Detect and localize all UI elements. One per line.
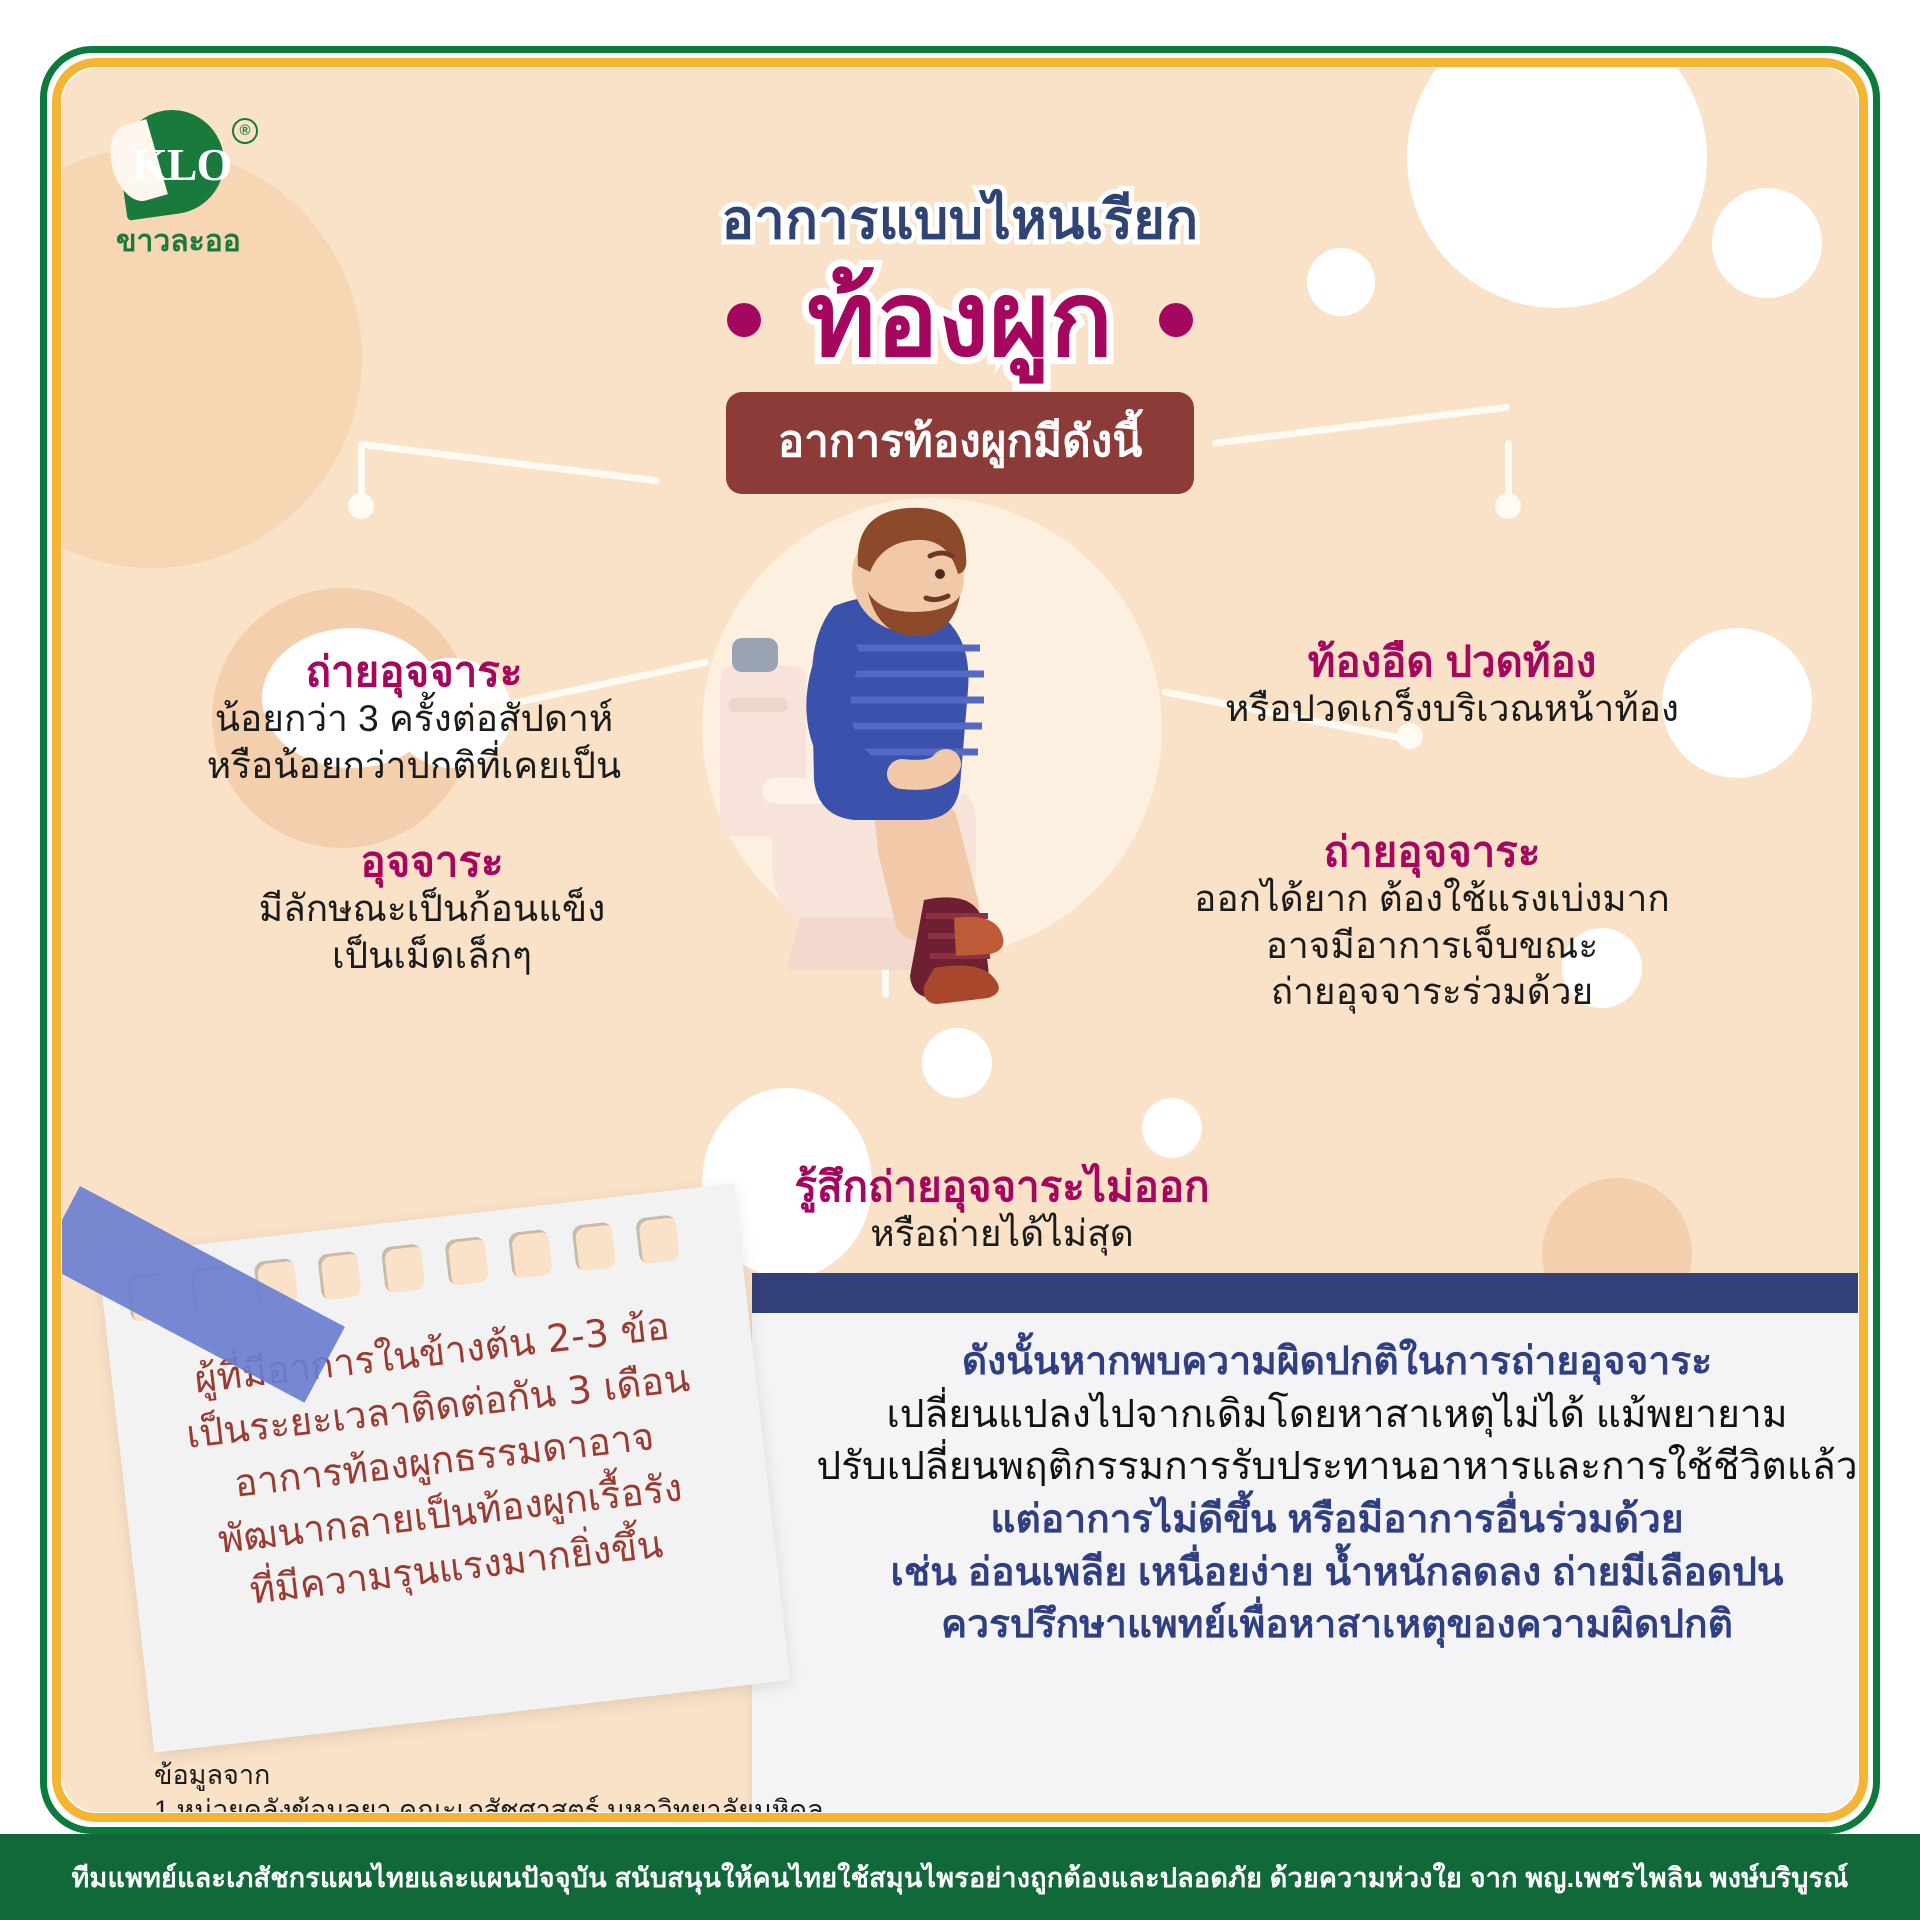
conclusion-line: แต่อาการไม่ดีขึ้น หรือมีอาการอื่นร่วมด้ว… [762, 1494, 1858, 1547]
symptom-stool-texture: อุจจาระ มีลักษณะเป็นก้อนแข็ง เป็นเม็ดเล็… [172, 838, 692, 979]
symptom-straining: ถ่ายอุจจาระ ออกได้ยาก ต้องใช้แรงเบ่งมาก … [1122, 828, 1742, 1015]
symptom-line: หรือน้อยกว่าปกติที่เคยเป็น [134, 743, 694, 789]
symptom-stool-frequency: ถ่ายอุจจาระ น้อยกว่า 3 ครั้งต่อสัปดาห์ ห… [134, 648, 694, 789]
person-on-toilet-illustration [662, 488, 1182, 1008]
symptom-heading: ท้องอืด ปวดท้อง [1152, 638, 1752, 686]
subtitle-banner: อาการท้องผูกมีดังนี้ [726, 392, 1195, 494]
poster-canvas: KLO ® ขาวละออ อาการแบบไหนเรียก ท้องผูก อ… [62, 68, 1858, 1812]
registered-icon: ® [232, 118, 258, 144]
note-hole [381, 1243, 426, 1293]
footer-bar: ทีมแพทย์และเภสัชกรแผนไทยและแผนปัจจุบัน ส… [0, 1834, 1920, 1920]
decor-blob [922, 1028, 992, 1098]
title-dot-right-icon [1159, 303, 1193, 337]
symptom-line: หรือปวดเกร็งบริเวณหน้าท้อง [1152, 686, 1752, 732]
footer-text: ทีมแพทย์และเภสัชกรแผนไทยและแผนปัจจุบัน ส… [71, 1856, 1848, 1899]
title-main-row: ท้องผูก [62, 264, 1858, 376]
decor-blob [1142, 1098, 1202, 1158]
symptom-line: ถ่ายอุจจาระร่วมด้วย [1122, 969, 1742, 1015]
note-hole [317, 1250, 362, 1300]
symptom-line: อาจมีอาการเจ็บขณะ [1122, 923, 1742, 969]
conclusion-line: เช่น อ่อนเพลีย เหนื่อยง่าย น้ำหนักลดลง ถ… [762, 1547, 1858, 1600]
note-hole [444, 1236, 489, 1286]
symptom-bloating-pain: ท้องอืด ปวดท้อง หรือปวดเกร็งบริเวณหน้าท้… [1152, 638, 1752, 733]
symptom-line: มีลักษณะเป็นก้อนแข็ง [172, 886, 692, 932]
conclusion-line: ควรปรึกษาแพทย์เพื่อหาสาเหตุของความผิดปกต… [762, 1599, 1858, 1652]
conclusion-line: ปรับเปลี่ยนพฤติกรรมการรับประทานอาหารและก… [762, 1441, 1858, 1494]
source-item: 1.หน่วยคลังข้อมูลยา คณะเภสัชศาสตร์ มหาวิ… [154, 1793, 854, 1812]
title-dot-left-icon [727, 303, 761, 337]
conclusion-line: ดังนั้นหากพบความผิดปกติในการถ่ายอุจจาระ [762, 1336, 1858, 1389]
conclusion-line: เปลี่ยนแปลงไปจากเดิมโดยหาสาเหตุไม่ได้ แม… [762, 1389, 1858, 1442]
note-hole [571, 1221, 616, 1271]
symptom-heading: อุจจาระ [172, 838, 692, 886]
symptom-line: ออกได้ยาก ต้องใช้แรงเบ่งมาก [1122, 876, 1742, 922]
sources-label: ข้อมูลจาก [154, 1758, 854, 1793]
panel-top-bar [752, 1273, 1858, 1313]
symptom-line: เป็นเม็ดเล็กๆ [172, 933, 692, 979]
note-hole [508, 1229, 553, 1279]
symptom-heading: ถ่ายอุจจาระ [1122, 828, 1742, 876]
page-title-block: อาการแบบไหนเรียก ท้องผูก อาการท้องผูกมีด… [62, 176, 1858, 494]
symptom-line: น้อยกว่า 3 ครั้งต่อสัปดาห์ [134, 696, 694, 742]
page-title: ท้องผูก [807, 264, 1113, 376]
symptom-heading: ถ่ายอุจจาระ [134, 648, 694, 696]
note-hole [635, 1214, 680, 1264]
conclusion-text: ดังนั้นหากพบความผิดปกติในการถ่ายอุจจาระ … [762, 1336, 1858, 1652]
sources-block: ข้อมูลจาก 1.หน่วยคลังข้อมูลยา คณะเภสัชศา… [154, 1758, 854, 1812]
title-kicker: อาการแบบไหนเรียก [62, 176, 1858, 262]
